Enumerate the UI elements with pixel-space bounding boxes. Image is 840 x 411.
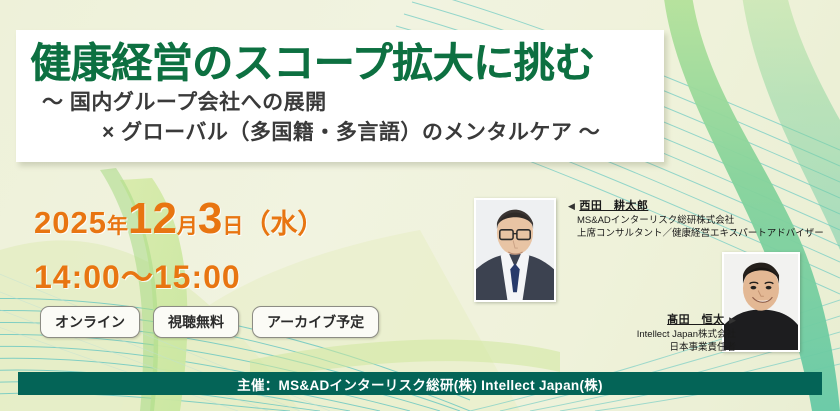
organizer-text: 主催：MS&ADインターリスク総研(株) Intellect Japan(株) <box>237 374 603 394</box>
page-title: 健康経営のスコープ拡大に挑む <box>30 38 664 88</box>
date-year-unit: 年 <box>107 215 128 238</box>
subtitle-line-1: ～ 国内グループ会社への展開 <box>30 88 664 118</box>
date-day: 3 <box>198 194 222 243</box>
event-time: 14:00～15:00 <box>34 252 241 298</box>
speaker-info-takada: 髙田 恒太 ▶ Intellect Japan株式会社 日本事業責任者 <box>590 310 736 354</box>
badge-list: オンライン 視聴無料 アーカイブ予定 <box>40 306 379 338</box>
badge-archive[interactable]: アーカイブ予定 <box>252 306 379 338</box>
right-triangle-icon: ▶ <box>729 315 736 325</box>
date-weekday: （水） <box>243 209 324 239</box>
badge-online[interactable]: オンライン <box>40 306 140 338</box>
badge-free[interactable]: 視聴無料 <box>153 306 239 338</box>
title-card: 健康経営のスコープ拡大に挑む ～ 国内グループ会社への展開 × グローバル（多国… <box>16 30 664 162</box>
speaker-name: 西田 耕太郎 <box>579 200 648 212</box>
speaker-photo-nishida <box>474 198 556 302</box>
date-day-unit: 日 <box>222 215 243 238</box>
date-year: 2025 <box>34 205 107 240</box>
speaker-role: 日本事業責任者 <box>590 341 736 354</box>
date-month: 12 <box>128 194 177 243</box>
speaker-organization: MS&ADインターリスク総研株式会社 <box>568 214 824 227</box>
speaker-role: 上席コンサルタント／健康経営エキスパートアドバイザー <box>568 227 824 240</box>
date-month-unit: 月 <box>177 215 198 238</box>
speaker-info-nishida: ◀ 西田 耕太郎 MS&ADインターリスク総研株式会社 上席コンサルタント／健康… <box>568 196 824 240</box>
footer-bar: 主催：MS&ADインターリスク総研(株) Intellect Japan(株) <box>18 372 822 395</box>
seminar-banner: 健康経営のスコープ拡大に挑む ～ 国内グループ会社への展開 × グローバル（多国… <box>0 0 840 411</box>
subtitle-line-2: × グローバル（多国籍・多言語）のメンタルケア ～ <box>30 118 664 148</box>
event-date: 2025年12月3日（水） <box>34 194 324 244</box>
speaker-name: 髙田 恒太 <box>667 314 725 326</box>
speaker-organization: Intellect Japan株式会社 <box>590 328 736 341</box>
left-triangle-icon: ◀ <box>568 201 575 211</box>
